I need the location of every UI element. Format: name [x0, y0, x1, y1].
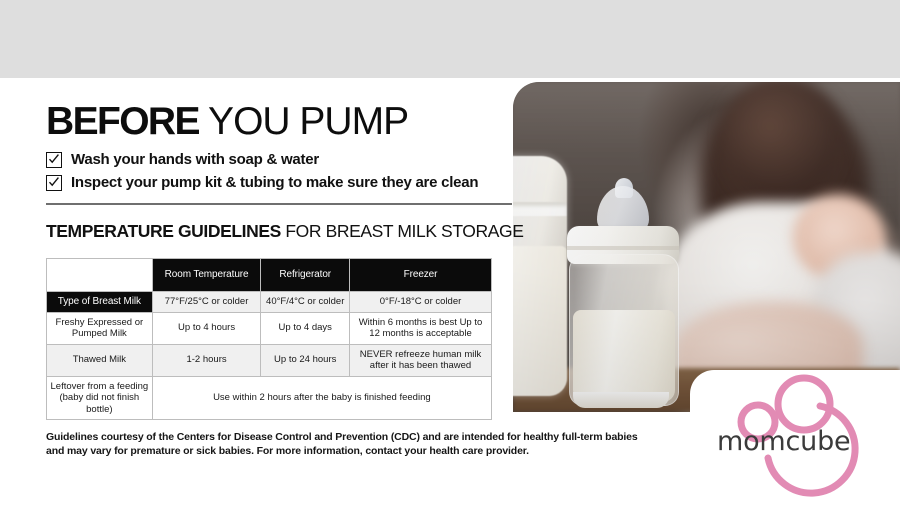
- prep-checklist: Wash your hands with soap & water Inspec…: [46, 150, 512, 192]
- hero-photo: [513, 82, 900, 412]
- page-title: BEFORE YOU PUMP: [46, 100, 512, 144]
- cell-leftover-all: Use within 2 hours after the baby is fin…: [152, 376, 491, 420]
- poster-page: BEFORE YOU PUMP Wash your hands with soa…: [0, 0, 900, 521]
- cell-temp-fridge: 40°F/4°C or colder: [261, 292, 350, 313]
- table-temperature-row: Type of Breast Milk 77°F/25°C or colder …: [47, 292, 492, 313]
- section-title-bold: TEMPERATURE GUIDELINES: [46, 221, 281, 241]
- column-header-freezer: Freezer: [350, 259, 492, 292]
- table-row: Freshy Expressed or Pumped Milk Up to 4 …: [47, 312, 492, 344]
- table-row: Thawed Milk 1-2 hours Up to 24 hours NEV…: [47, 344, 492, 376]
- table-header-row: Room Temperature Refrigerator Freezer: [47, 259, 492, 292]
- checkbox-checked-icon[interactable]: [46, 175, 62, 191]
- checklist-item[interactable]: Wash your hands with soap & water: [46, 150, 512, 169]
- top-gray-bar: [0, 0, 900, 78]
- cell-thawed-fridge: Up to 24 hours: [261, 344, 350, 376]
- checkbox-checked-icon[interactable]: [46, 152, 62, 168]
- storage-table-wrapper: Room Temperature Refrigerator Freezer Ty…: [46, 258, 492, 420]
- cell-thawed-freezer: NEVER refreeze human milk after it has b…: [350, 344, 492, 376]
- section-title: TEMPERATURE GUIDELINES FOR BREAST MILK S…: [46, 221, 512, 242]
- table-row: Leftover from a feeding (baby did not fi…: [47, 376, 492, 420]
- checklist-item-label: Inspect your pump kit & tubing to make s…: [71, 173, 478, 192]
- table-corner-cell: [47, 259, 153, 292]
- cell-fresh-fridge: Up to 4 days: [261, 312, 350, 344]
- row-label-leftover: Leftover from a feeding (baby did not fi…: [47, 376, 153, 420]
- cell-temp-freezer: 0°F/-18°C or colder: [350, 292, 492, 313]
- main-content: BEFORE YOU PUMP Wash your hands with soa…: [46, 100, 512, 420]
- checklist-item[interactable]: Inspect your pump kit & tubing to make s…: [46, 173, 512, 192]
- photo-overlay: [513, 82, 900, 412]
- column-header-refrigerator: Refrigerator: [261, 259, 350, 292]
- cell-thawed-room: 1-2 hours: [152, 344, 261, 376]
- logo-panel: momcube: [690, 370, 900, 521]
- cell-fresh-room: Up to 4 hours: [152, 312, 261, 344]
- page-title-light: YOU PUMP: [199, 100, 408, 143]
- cell-temp-room: 77°F/25°C or colder: [152, 292, 261, 313]
- momcube-logo[interactable]: momcube: [690, 370, 900, 521]
- temperature-guidelines-table: Room Temperature Refrigerator Freezer Ty…: [46, 258, 492, 420]
- momcube-wordmark: momcube: [717, 426, 850, 457]
- row-header-type-of-breast-milk: Type of Breast Milk: [47, 292, 153, 313]
- section-divider: [46, 203, 512, 205]
- row-label-freshly-expressed: Freshy Expressed or Pumped Milk: [47, 312, 153, 344]
- cell-fresh-freezer: Within 6 months is best Up to 12 months …: [350, 312, 492, 344]
- section-title-light: FOR BREAST MILK STORAGE: [281, 221, 524, 241]
- page-title-bold: BEFORE: [46, 100, 199, 143]
- checklist-item-label: Wash your hands with soap & water: [71, 150, 319, 169]
- footnote-text: Guidelines courtesy of the Centers for D…: [46, 431, 646, 458]
- column-header-room-temperature: Room Temperature: [152, 259, 261, 292]
- row-label-thawed-milk: Thawed Milk: [47, 344, 153, 376]
